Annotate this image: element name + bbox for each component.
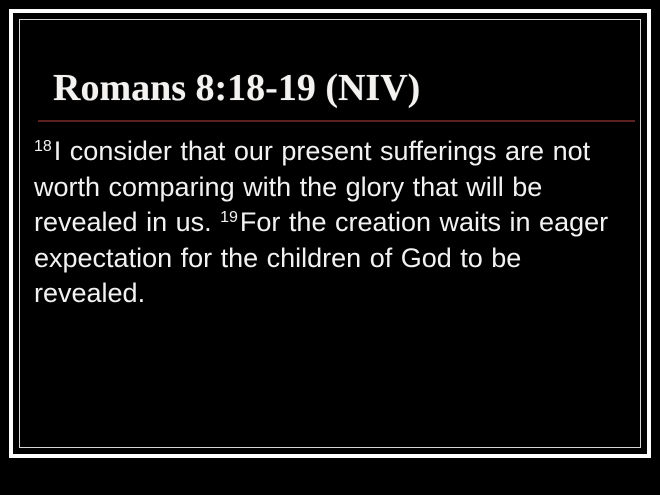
scripture-body: 18I consider that our present sufferings… [34, 134, 632, 312]
verse-number-19: 19 [220, 209, 240, 226]
slide-canvas: Romans 8:18-19 (NIV) 18I consider that o… [0, 0, 660, 495]
slide-empty-area [34, 320, 632, 440]
verse-number-18: 18 [34, 138, 54, 155]
title-divider [38, 120, 635, 122]
slide-title: Romans 8:18-19 (NIV) [53, 66, 613, 110]
